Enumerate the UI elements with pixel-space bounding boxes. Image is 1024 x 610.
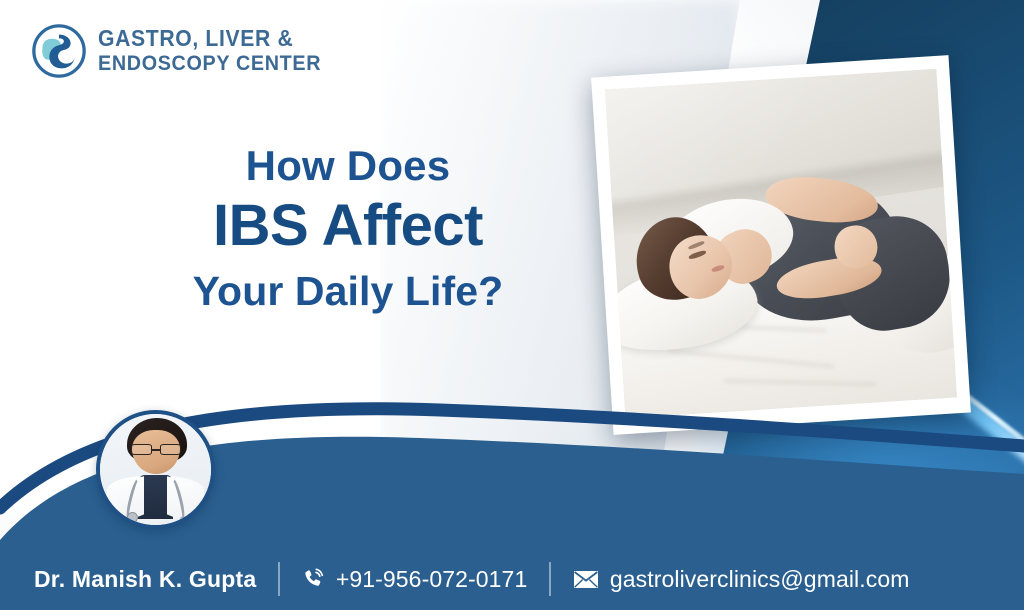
envelope-icon xyxy=(573,570,599,589)
footer-contact-bar: Dr. Manish K. Gupta +91-956-072-0171 xyxy=(0,548,1024,610)
avatar xyxy=(96,410,215,529)
headline-line-2: IBS Affect xyxy=(148,194,548,259)
phone-ringing-icon xyxy=(302,568,325,591)
phone-contact[interactable]: +91-956-072-0171 xyxy=(302,566,528,593)
hero-photo xyxy=(591,55,971,435)
email-address: gastroliverclinics@gmail.com xyxy=(610,566,910,593)
brand-line-1: GASTRO, LIVER & xyxy=(98,27,321,50)
glasses-icon xyxy=(131,444,181,455)
brand-line-2: ENDOSCOPY CENTER xyxy=(98,53,321,75)
headline-line-1: How Does xyxy=(148,144,548,188)
separator xyxy=(278,562,280,596)
phone-number: +91-956-072-0171 xyxy=(336,566,528,593)
headline-line-3: Your Daily Life? xyxy=(148,270,548,313)
doctor-name: Dr. Manish K. Gupta xyxy=(34,566,256,593)
hero-photo-image xyxy=(605,69,957,418)
separator xyxy=(549,562,551,596)
email-contact[interactable]: gastroliverclinics@gmail.com xyxy=(573,566,910,593)
liver-stomach-circle-logo-icon xyxy=(30,22,88,80)
brand-logo[interactable]: GASTRO, LIVER & ENDOSCOPY CENTER xyxy=(30,22,341,80)
banner: GASTRO, LIVER & ENDOSCOPY CENTER How Doe… xyxy=(0,0,1024,610)
page-title: How Does IBS Affect Your Daily Life? xyxy=(148,144,548,313)
